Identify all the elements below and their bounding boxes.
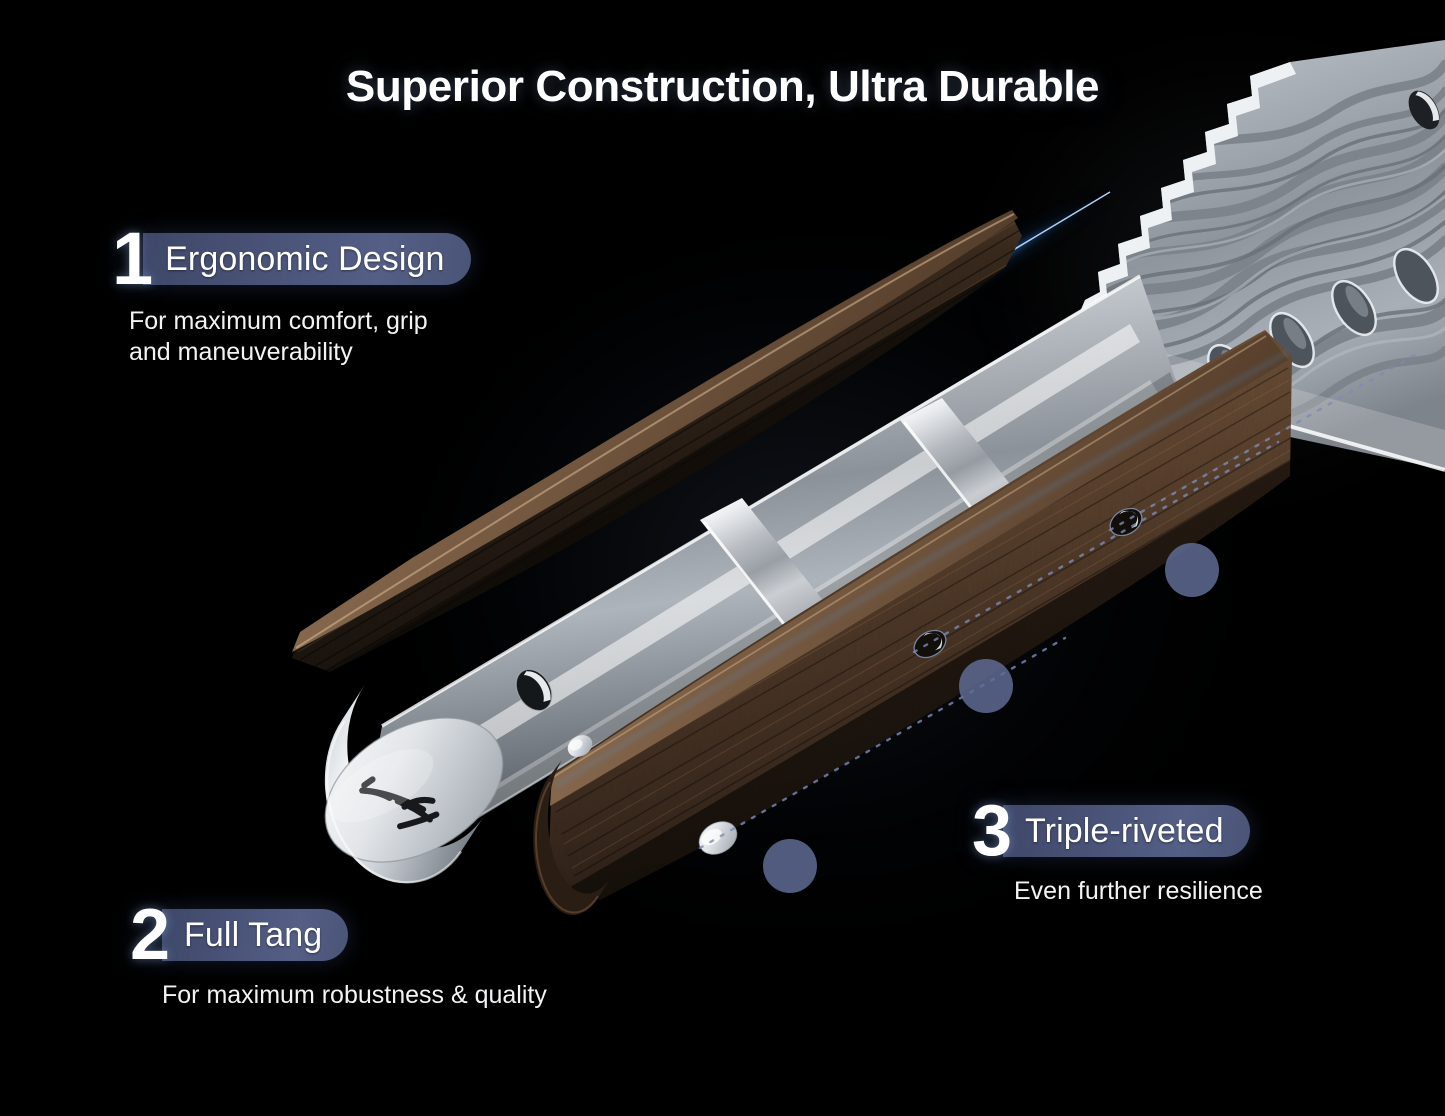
callout-3-number: 3 xyxy=(972,801,1012,861)
callout-2-pill: Full Tang xyxy=(162,909,348,961)
callout-1-tag-row: 1 Ergonomic Design xyxy=(112,230,471,288)
callout-3-subtitle: Even further resilience xyxy=(1014,876,1263,907)
infographic-stage: Superior Construction, Ultra Durable 1 E… xyxy=(0,0,1445,1116)
callout-ergonomic-design: 1 Ergonomic Design For maximum comfort, … xyxy=(112,230,471,367)
callout-3-tag-row: 3 Triple-riveted xyxy=(972,802,1263,860)
callout-full-tang: 2 Full Tang For maximum robustness & qua… xyxy=(130,906,547,1011)
callout-3-label: Triple-riveted xyxy=(1025,812,1224,851)
callout-1-number: 1 xyxy=(112,228,153,290)
guide-dot-1 xyxy=(763,839,817,893)
callout-2-number: 2 xyxy=(130,905,170,965)
callout-1-label: Ergonomic Design xyxy=(165,240,444,279)
callout-1-pill: Ergonomic Design xyxy=(143,233,470,285)
callout-2-label: Full Tang xyxy=(184,916,322,955)
callout-1-subtitle: For maximum comfort, grip and maneuverab… xyxy=(129,306,471,367)
guide-dot-3 xyxy=(1165,543,1219,597)
callout-2-tag-row: 2 Full Tang xyxy=(130,906,547,964)
callout-triple-riveted: 3 Triple-riveted Even further resilience xyxy=(972,802,1263,907)
page-title: Superior Construction, Ultra Durable xyxy=(0,62,1445,112)
callout-3-pill: Triple-riveted xyxy=(1003,805,1250,857)
callout-2-subtitle: For maximum robustness & quality xyxy=(162,980,547,1011)
guide-dot-2 xyxy=(959,659,1013,713)
